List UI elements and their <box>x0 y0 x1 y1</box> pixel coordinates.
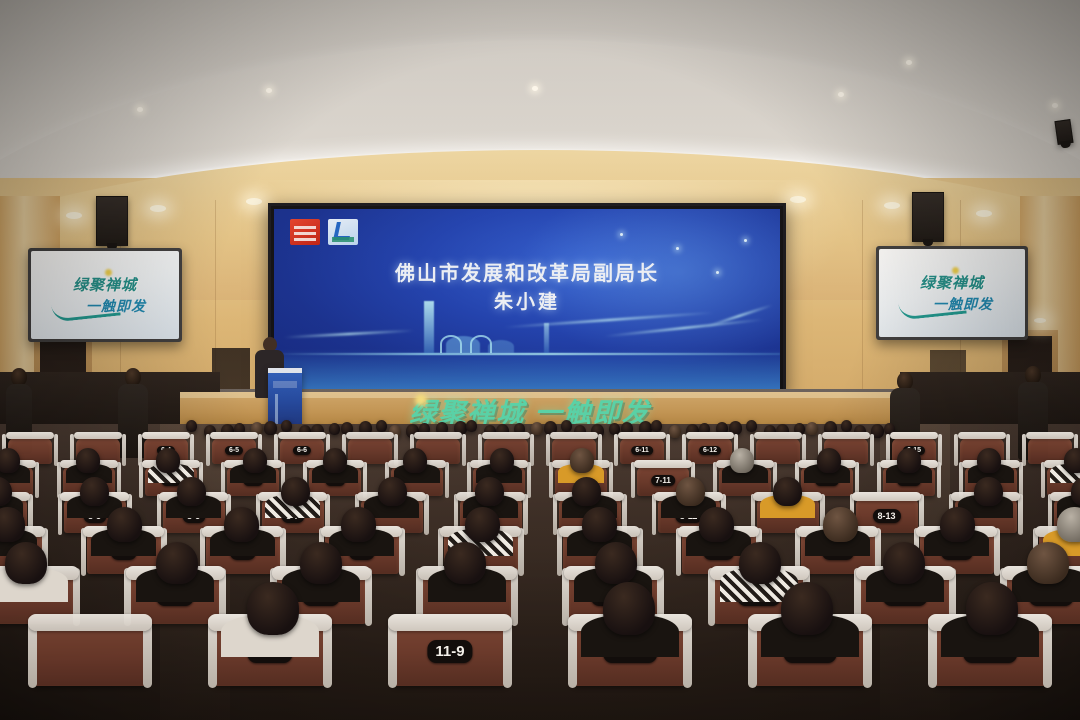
audience-member-head <box>243 448 267 472</box>
seat[interactable]: 11-9 <box>394 620 506 686</box>
audience-member-head <box>1027 542 1068 584</box>
audience-member-head <box>669 425 681 438</box>
slogan-line-2: 一触即发 <box>86 296 146 316</box>
seat-headrest <box>754 432 802 439</box>
seat-armrest <box>462 434 466 466</box>
seat-armrest <box>549 462 553 498</box>
side-screen-right[interactable]: 绿聚禅城 一触即发 <box>876 246 1028 340</box>
side-screen-right-surface: 绿聚禅城 一触即发 <box>879 249 1025 337</box>
audience-member-head <box>582 507 616 542</box>
audience-member-head <box>177 477 206 506</box>
seat-armrest <box>954 434 958 466</box>
banner-dot-icon <box>415 394 427 406</box>
seat-armrest <box>1019 462 1023 498</box>
audience-member-head <box>490 448 514 472</box>
side-screen-left-surface: 绿聚禅城 一触即发 <box>31 251 179 339</box>
audience-member-head <box>264 421 277 435</box>
security-camera-icon <box>1054 119 1073 145</box>
seat-headrest <box>6 432 54 439</box>
audience-member-head <box>156 542 197 584</box>
audience-member-head <box>281 420 292 432</box>
ceiling-downlight <box>532 86 538 91</box>
led-skyline-arch <box>470 335 492 353</box>
wall-downlight <box>150 205 166 212</box>
audience-member-head <box>897 448 921 472</box>
seat-number-tag: 7-11 <box>651 475 675 486</box>
slogan-line-1: 绿聚禅城 <box>920 272 984 293</box>
seat-headrest <box>278 432 326 439</box>
seat-armrest <box>614 434 618 466</box>
seat-headrest <box>1026 432 1074 439</box>
seat-number-tag: 11-9 <box>427 640 472 663</box>
audience-member-head <box>1064 448 1080 472</box>
audience-member-head <box>403 448 427 472</box>
audience-member-head <box>0 507 25 542</box>
audience-member-head <box>730 448 754 472</box>
audience-member-head <box>823 507 857 542</box>
ceiling-downlight <box>838 92 844 97</box>
seat-number-tag: 6-12 <box>699 446 721 455</box>
audience-member-head <box>561 420 572 432</box>
audience-member-head <box>940 507 974 542</box>
audience-member-head <box>773 477 802 506</box>
led-sparkle <box>676 247 679 250</box>
audience-member-head <box>977 448 1001 472</box>
seat-headrest <box>346 432 394 439</box>
slogan-line-2: 一触即发 <box>933 294 993 314</box>
seat-headrest <box>28 614 151 631</box>
seat-headrest <box>686 432 734 439</box>
seat-headrest <box>958 432 1006 439</box>
audience-member-head <box>76 448 100 472</box>
seat-headrest <box>482 432 530 439</box>
led-horizon-line <box>274 353 780 355</box>
wall-downlight <box>790 196 806 203</box>
audience-member-head <box>651 420 662 432</box>
audience-member-head <box>378 477 407 506</box>
audience-member-head <box>329 423 340 435</box>
seat-armrest <box>1041 462 1045 498</box>
audience-member-head <box>1057 507 1080 542</box>
seat-number-tag: 6-6 <box>293 446 311 455</box>
ceiling-downlight <box>1052 103 1058 108</box>
seat-headrest <box>550 432 598 439</box>
seat-armrest <box>122 434 126 466</box>
audience-member-head <box>806 422 818 435</box>
audience-member-head <box>80 477 109 506</box>
main-led-screen[interactable]: 佛山市发展和改革局副局长 朱小建 <box>268 203 786 395</box>
wall-speaker-right <box>912 192 944 242</box>
side-screen-left-slogan: 绿聚禅城 一触即发 <box>31 251 179 339</box>
led-speaker-title: 佛山市发展和改革局副局长 <box>274 257 780 286</box>
seat-headrest <box>388 614 511 631</box>
led-skyline-base <box>274 349 780 389</box>
audience-member-head <box>186 420 197 432</box>
stage-shadow-right <box>900 372 1080 428</box>
seat-headrest <box>634 460 691 468</box>
audience-member-head <box>376 420 387 432</box>
seat-headrest <box>142 432 190 439</box>
seat-armrest <box>206 434 210 466</box>
auditorium-scene: 佛山市发展和改革局副局长 朱小建 绿聚禅城 一触即发 绿聚禅城 一触即发 <box>0 0 1080 720</box>
audience-member-head <box>224 507 258 542</box>
audience-member-head <box>247 582 299 635</box>
seat-armrest <box>35 462 39 498</box>
wall-downlight <box>1034 318 1046 323</box>
seat-armrest <box>139 462 143 498</box>
audience-member-head <box>156 448 180 472</box>
wall-speaker-left <box>96 196 128 246</box>
led-skyline-tower <box>544 323 549 353</box>
red-event-logo <box>290 219 320 245</box>
audience-member-head <box>739 542 780 584</box>
audience-member-head <box>699 507 733 542</box>
audience-member-head <box>444 542 485 584</box>
seat-headrest <box>210 432 258 439</box>
audience-member-head <box>0 448 20 472</box>
wall-downlight <box>66 212 82 219</box>
audience-member-head <box>746 420 757 432</box>
wall-downlight <box>976 210 992 217</box>
audience-member-head <box>465 507 499 542</box>
seat-headrest <box>822 432 870 439</box>
seat-armrest <box>1018 494 1023 535</box>
seat-armrest <box>424 494 429 535</box>
seat-armrest <box>527 462 531 498</box>
seat-headrest <box>74 432 122 439</box>
blue-white-sponsor-logo <box>328 219 358 245</box>
wall-downlight <box>884 202 900 209</box>
audience-member-head <box>300 542 341 584</box>
audience-member-head <box>570 448 594 472</box>
audience-member-head <box>974 477 1003 506</box>
audience-member-head <box>781 582 833 635</box>
seat-number-tag: 8-13 <box>872 509 900 523</box>
seat-armrest <box>530 434 534 466</box>
ceiling-downlight <box>137 107 143 112</box>
seat-headrest <box>852 492 920 501</box>
audience-member-head <box>5 542 46 584</box>
audience-member-head <box>572 477 601 506</box>
audience-member-head <box>466 420 477 432</box>
seat-armrest <box>445 462 449 498</box>
seat-number-tag: 6-11 <box>631 446 653 455</box>
audience-member-head <box>841 420 852 432</box>
seat-armrest <box>631 462 635 498</box>
audience-member-head <box>323 448 347 472</box>
audience-member-head <box>595 542 636 584</box>
seat-headrest <box>414 432 462 439</box>
audience-member-head <box>107 507 141 542</box>
led-sparkle <box>744 239 747 242</box>
led-skyline-arch <box>440 335 462 353</box>
wall-downlight <box>246 198 262 205</box>
led-display-surface: 佛山市发展和改革局副局长 朱小建 <box>274 209 780 389</box>
side-screen-right-slogan: 绿聚禅城 一触即发 <box>879 249 1025 337</box>
audience-member-head <box>341 507 375 542</box>
seat-armrest <box>937 462 941 498</box>
audience-member-head <box>966 582 1018 635</box>
led-light-streak <box>284 330 414 339</box>
seat[interactable] <box>34 620 146 686</box>
led-speaker-name: 朱小建 <box>274 287 780 314</box>
audience-member-head <box>475 477 504 506</box>
audience-member-head <box>281 477 310 506</box>
audience-member-head <box>603 582 655 635</box>
led-sparkle <box>620 233 623 236</box>
audience-member-head <box>817 448 841 472</box>
seat-number-tag: 6-5 <box>225 446 243 455</box>
seat-armrest <box>1022 434 1026 466</box>
slogan-line-1: 绿聚禅城 <box>73 274 137 295</box>
audience-member-head <box>676 477 705 506</box>
seat-armrest <box>870 434 874 466</box>
audience-member-head <box>531 422 543 435</box>
ceiling-downlight <box>906 60 912 65</box>
side-screen-left[interactable]: 绿聚禅城 一触即发 <box>28 248 182 342</box>
audience-member-head <box>883 542 924 584</box>
ceiling-downlight <box>266 88 272 93</box>
seat-headrest <box>618 432 666 439</box>
seat-headrest <box>890 432 938 439</box>
